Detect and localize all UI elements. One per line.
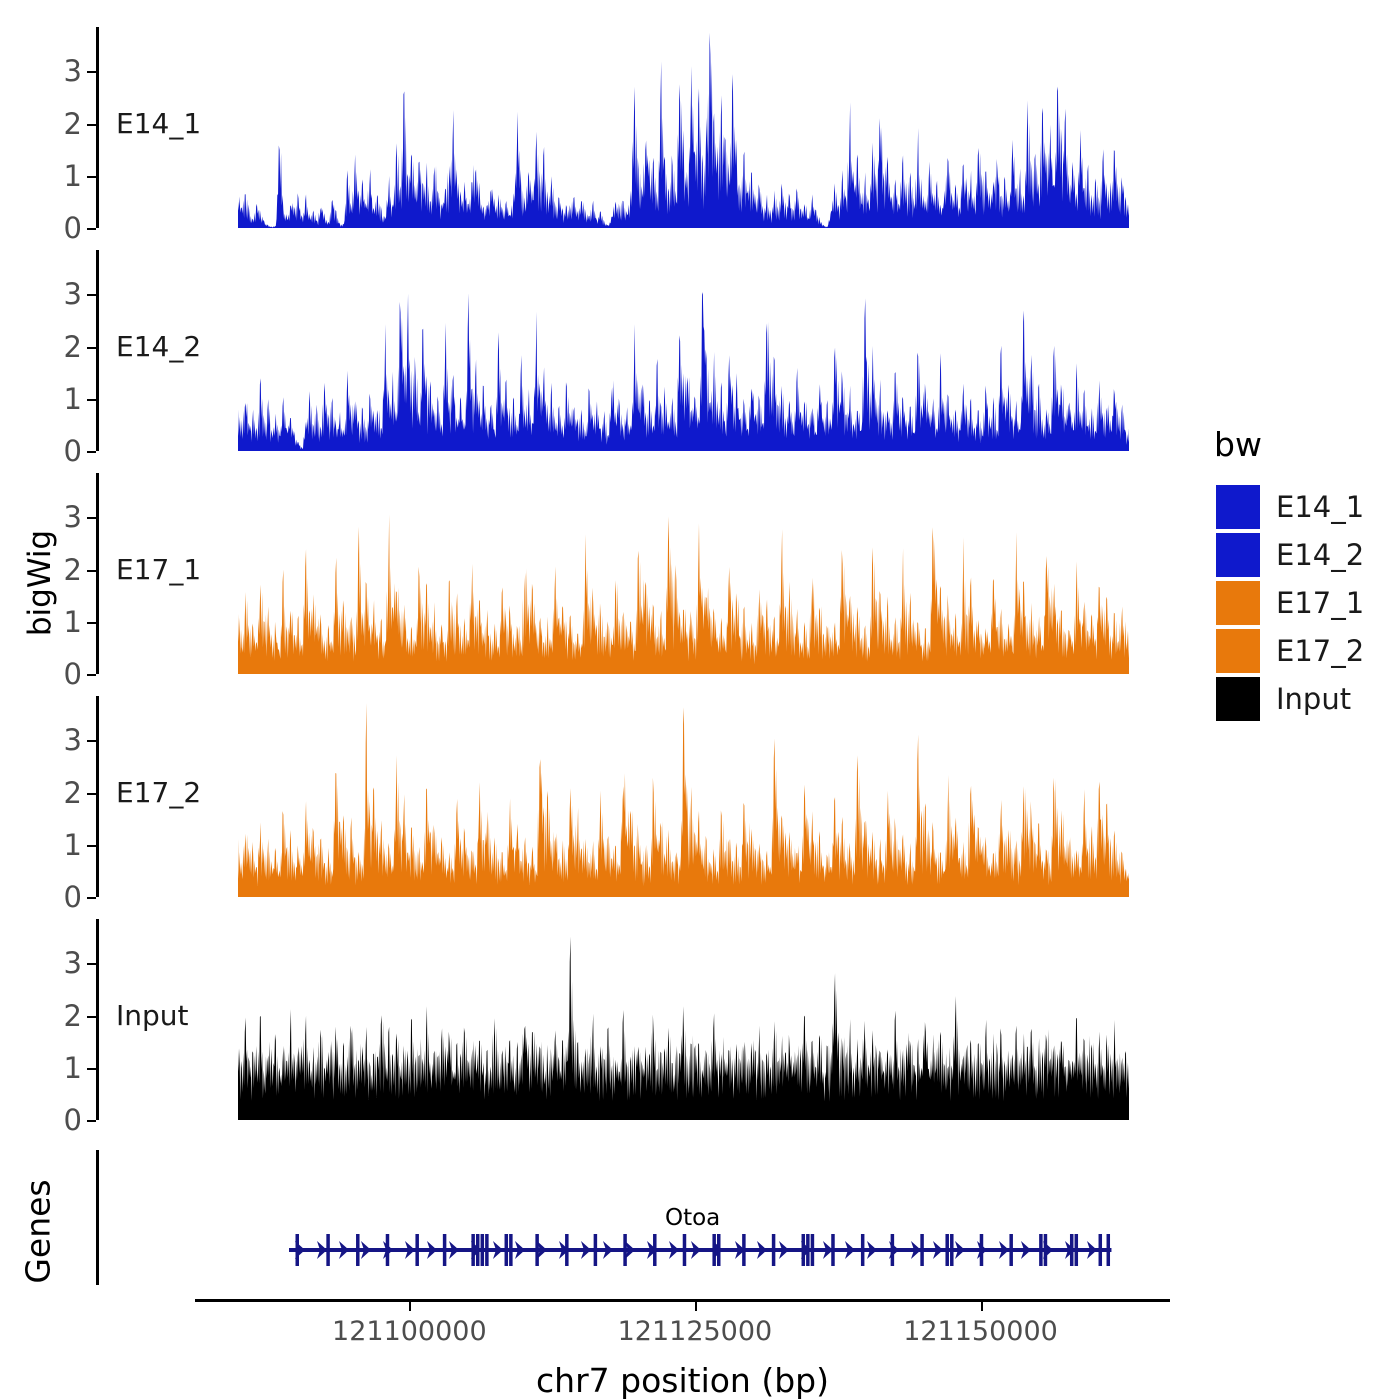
exon-tick (1040, 1234, 1044, 1266)
coverage-area (238, 703, 1129, 897)
exon-tick (1099, 1234, 1103, 1266)
x-tick (981, 1302, 983, 1311)
y-tick (87, 176, 96, 178)
y-tick-label: 1 (26, 159, 82, 193)
y-tick (87, 963, 96, 965)
exon-tick (356, 1234, 359, 1266)
track-panel-input: 0123Input (96, 919, 1133, 1120)
y-tick-label: 2 (26, 553, 82, 587)
exon-tick (891, 1234, 894, 1266)
exon-tick (713, 1234, 716, 1266)
exon-tick (861, 1234, 864, 1266)
y-tick-label: 3 (26, 500, 82, 534)
exon-tick (509, 1234, 512, 1266)
exon-tick (772, 1234, 776, 1266)
exon-tick (594, 1234, 597, 1266)
y-tick-label: 0 (26, 1103, 82, 1137)
exon-tick (486, 1234, 489, 1266)
legend: bw E14_1E14_2E17_1E17_2Input (1210, 425, 1400, 715)
y-tick (87, 897, 96, 899)
legend-label-e14_2: E14_2 (1276, 538, 1364, 572)
legend-label-e17_2: E17_2 (1276, 634, 1364, 668)
gene-model-otoa[interactable] (289, 1233, 1111, 1271)
y-tick (87, 570, 96, 572)
y-tick-label: 3 (26, 946, 82, 980)
y-tick (87, 517, 96, 519)
exon-tick (327, 1234, 330, 1266)
exon-tick (1044, 1234, 1048, 1266)
coverage-track-input (238, 919, 1129, 1120)
legend-swatch-e17_2[interactable] (1216, 629, 1260, 673)
exon-tick (476, 1234, 479, 1266)
track-panel-e17_1: 0123E17_1 (96, 473, 1133, 674)
exon-tick (811, 1234, 815, 1266)
exon-tick (921, 1234, 924, 1266)
strip-label-genes: Genes (19, 1142, 58, 1322)
exon-tick (472, 1234, 475, 1266)
exon-tick (1107, 1234, 1110, 1266)
exon-tick (950, 1234, 953, 1266)
y-tick-label: 3 (26, 723, 82, 757)
y-tick-label: 1 (26, 605, 82, 639)
exon-tick (416, 1234, 419, 1266)
y-tick (87, 674, 96, 676)
y-tick-label: 2 (26, 330, 82, 364)
coverage-area (238, 292, 1129, 451)
y-tick-label: 0 (26, 657, 82, 691)
exon-tick (565, 1234, 568, 1266)
y-tick (87, 124, 96, 126)
coverage-track-e17_2 (238, 696, 1129, 897)
exon-tick (980, 1234, 984, 1266)
x-tick-label: 121150000 (903, 1316, 1058, 1347)
panel-label-e17_2: E17_2 (116, 776, 201, 809)
track-panel-e17_2: 0123E17_2 (96, 696, 1133, 897)
coverage-area (238, 515, 1129, 674)
legend-label-e17_1: E17_1 (1276, 586, 1364, 620)
y-tick-label: 0 (26, 211, 82, 245)
x-tick (695, 1302, 697, 1311)
y-tick (87, 399, 96, 401)
x-axis-line (195, 1299, 1170, 1302)
exon-tick (653, 1234, 656, 1266)
coverage-track-e17_1 (238, 473, 1129, 674)
y-tick-label: 2 (26, 776, 82, 810)
track-panel-e14_1: 0123E14_1 (96, 27, 1133, 228)
y-tick-label: 3 (26, 277, 82, 311)
y-axis-spine (96, 27, 99, 228)
y-tick-label: 2 (26, 999, 82, 1033)
y-tick (87, 347, 96, 349)
legend-swatch-e17_1[interactable] (1216, 581, 1260, 625)
y-tick (87, 1016, 96, 1018)
y-tick (87, 622, 96, 624)
x-tick-label: 121125000 (618, 1316, 773, 1347)
exon-tick (443, 1234, 446, 1266)
coverage-track-e14_2 (238, 250, 1129, 451)
exon-tick (802, 1234, 805, 1266)
coverage-area (238, 33, 1129, 228)
y-tick (87, 1068, 96, 1070)
legend-label-input: Input (1276, 682, 1351, 716)
exon-tick (743, 1234, 747, 1266)
x-tick (409, 1302, 411, 1311)
y-tick (87, 793, 96, 795)
exon-tick (624, 1234, 627, 1266)
exon-tick (386, 1234, 389, 1266)
y-tick-label: 1 (26, 1051, 82, 1085)
legend-swatch-input[interactable] (1216, 677, 1260, 721)
y-tick (87, 71, 96, 73)
y-tick (87, 1120, 96, 1122)
y-tick-label: 2 (26, 107, 82, 141)
y-tick-label: 1 (26, 382, 82, 416)
coverage-area (238, 937, 1129, 1120)
exon-tick (946, 1234, 949, 1266)
exon-tick (683, 1234, 686, 1266)
exon-tick (296, 1234, 299, 1266)
exon-tick (806, 1234, 810, 1266)
genes-panel-spine (96, 1150, 99, 1285)
gene-name-label: Otoa (665, 1205, 720, 1231)
y-tick-label: 3 (26, 54, 82, 88)
legend-swatch-e14_2[interactable] (1216, 533, 1260, 577)
exon-tick (1070, 1234, 1073, 1266)
x-axis-title: chr7 position (bp) (536, 1361, 829, 1400)
y-tick (87, 451, 96, 453)
exon-tick (505, 1234, 508, 1266)
y-tick (87, 740, 96, 742)
exon-tick (832, 1234, 835, 1266)
exon-tick (481, 1234, 484, 1266)
exon-tick (536, 1234, 539, 1266)
legend-swatch-e14_1[interactable] (1216, 485, 1260, 529)
exon-tick (1010, 1234, 1014, 1266)
exon-tick (1075, 1234, 1079, 1266)
y-axis-spine (96, 919, 99, 1120)
y-tick-label: 0 (26, 434, 82, 468)
x-tick-label: 121100000 (332, 1316, 487, 1347)
panel-label-input: Input (116, 999, 189, 1032)
legend-title: bw (1214, 425, 1262, 464)
panel-label-e14_2: E14_2 (116, 330, 201, 363)
coverage-track-e14_1 (238, 27, 1129, 228)
y-tick (87, 845, 96, 847)
panel-label-e14_1: E14_1 (116, 107, 201, 140)
y-tick-label: 1 (26, 828, 82, 862)
track-panel-e14_2: 0123E14_2 (96, 250, 1133, 451)
y-tick (87, 294, 96, 296)
y-tick (87, 228, 96, 230)
y-axis-spine (96, 473, 99, 674)
legend-label-e14_1: E14_1 (1276, 490, 1364, 524)
exon-tick (717, 1234, 721, 1266)
panel-label-e17_1: E17_1 (116, 553, 201, 586)
y-axis-spine (96, 250, 99, 451)
y-axis-spine (96, 696, 99, 897)
y-tick-label: 0 (26, 880, 82, 914)
